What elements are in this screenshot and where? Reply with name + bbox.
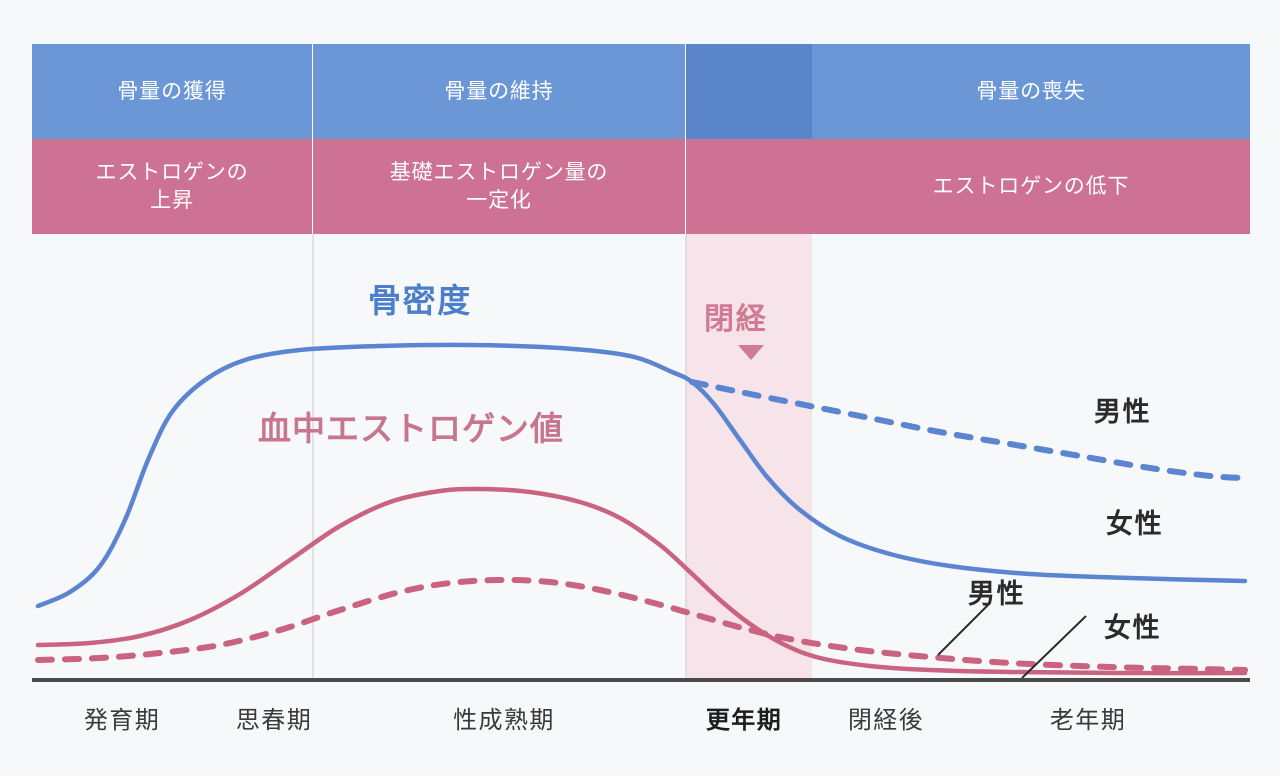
- bone-band-cell-3: 骨量の喪失: [812, 44, 1250, 139]
- chart-plot-area: 骨密度 血中エストロゲン値 閉経 男性 女性 男性 女性: [0, 234, 1280, 690]
- curve-group: [38, 345, 1245, 673]
- bone-density-label: 骨密度: [368, 274, 472, 322]
- bone-band-cell-2: [686, 44, 812, 139]
- estrogen-band-cell-2: [686, 139, 812, 234]
- chart-svg: [0, 234, 1280, 690]
- estrogen-band-cell-3: エストロゲンの低下: [812, 139, 1250, 234]
- x-axis-label-2: 性成熟期: [453, 700, 555, 735]
- curve-bone_density-female: [38, 345, 1245, 606]
- bone-mass-band-row: 骨量の獲得骨量の維持骨量の喪失: [32, 44, 1250, 139]
- menopause-label: 閉経: [704, 294, 768, 338]
- bone-male-label: 男性: [1094, 390, 1151, 429]
- bone-band-cell-1: 骨量の維持: [313, 44, 685, 139]
- leader-line-group: [938, 603, 1086, 678]
- bone-density-estrogen-chart: 骨量の獲得骨量の維持骨量の喪失 エストロゲンの 上昇基礎エストロゲン量の 一定化…: [0, 0, 1280, 776]
- estrogen-band-row: エストロゲンの 上昇基礎エストロゲン量の 一定化エストロゲンの低下: [32, 139, 1250, 234]
- x-axis-label-1: 思春期: [236, 700, 312, 735]
- menopause-triangle-icon: [738, 345, 764, 360]
- x-axis-label-5: 老年期: [1050, 700, 1126, 735]
- phase-header-bands: 骨量の獲得骨量の維持骨量の喪失 エストロゲンの 上昇基礎エストロゲン量の 一定化…: [32, 44, 1250, 234]
- band-divider-1: [685, 44, 686, 234]
- x-axis-label-3: 更年期: [706, 700, 782, 735]
- x-axis-label-row: 発育期思春期性成熟期更年期閉経後老年期: [0, 700, 1280, 750]
- bone-band-cell-0: 骨量の獲得: [32, 44, 312, 139]
- curve-estrogen-male: [38, 580, 1245, 670]
- estrogen-band-cell-1: 基礎エストロゲン量の 一定化: [313, 139, 685, 234]
- x-axis-label-0: 発育期: [84, 700, 160, 735]
- estrogen-male-label: 男性: [968, 572, 1025, 611]
- curve-estrogen-female: [38, 489, 1245, 673]
- x-axis-label-4: 閉経後: [848, 700, 924, 735]
- estrogen-band-cell-0: エストロゲンの 上昇: [32, 139, 312, 234]
- band-divider-0: [312, 44, 313, 234]
- estrogen-level-label: 血中エストロゲン値: [258, 402, 564, 450]
- estrogen-female-label: 女性: [1104, 606, 1161, 645]
- bone-female-label: 女性: [1106, 502, 1163, 541]
